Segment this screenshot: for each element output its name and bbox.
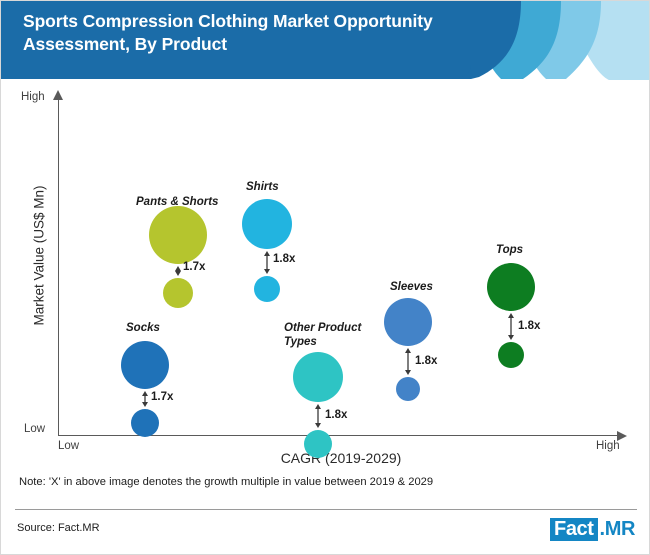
growth-connector-shirts [262, 251, 272, 274]
growth-connector-sleeves [403, 348, 413, 375]
x-axis-low-label: Low [58, 440, 79, 452]
y-axis-line [58, 98, 59, 436]
growth-multiple-other-product-types: 1.8x [325, 409, 347, 421]
bubble-label-sleeves: Sleeves [390, 281, 433, 295]
bubble-label-tops: Tops [496, 244, 523, 258]
growth-connector-socks [140, 391, 150, 407]
y-axis-arrow-icon [53, 90, 63, 100]
factmr-logo: Fact .MR [550, 517, 635, 541]
bubble-pants-shorts-2019 [149, 206, 207, 264]
growth-multiple-tops: 1.8x [518, 320, 540, 332]
bubble-label-socks: Socks [126, 322, 160, 336]
x-axis-high-label: High [596, 440, 620, 452]
source-label: Source: Fact.MR [17, 522, 100, 534]
growth-multiple-shirts: 1.8x [273, 253, 295, 265]
growth-connector-other-product-types [313, 404, 323, 428]
y-axis-low-label: Low [24, 423, 45, 435]
growth-multiple-sleeves: 1.8x [415, 355, 437, 367]
bubble-other-product-types-2029 [304, 430, 332, 458]
chart-note: Note: 'X' in above image denotes the gro… [19, 476, 433, 488]
chart-image: Sports Compression Clothing Market Oppor… [0, 0, 650, 555]
bubble-tops-2019 [487, 263, 535, 311]
bubble-other-product-types-2019 [293, 352, 343, 402]
bubble-sleeves-2029 [396, 377, 420, 401]
y-axis-high-label: High [21, 91, 45, 103]
logo-fact-text: Fact [550, 518, 598, 541]
bubble-socks-2029 [131, 409, 159, 437]
x-axis-arrow-icon [617, 431, 627, 441]
growth-multiple-socks: 1.7x [151, 391, 173, 403]
growth-connector-tops [506, 313, 516, 340]
bubble-pants-shorts-2029 [163, 278, 193, 308]
logo-mr-text: .MR [598, 518, 635, 540]
header-banner: Sports Compression Clothing Market Oppor… [1, 1, 650, 83]
bubble-label-pants-shorts: Pants & Shorts [136, 196, 218, 210]
page-title: Sports Compression Clothing Market Oppor… [23, 10, 553, 56]
footer-divider [15, 509, 637, 510]
chart-plot-area: High Low Low High Market Value (US$ Mn) … [1, 83, 650, 453]
bubble-shirts-2019 [242, 199, 292, 249]
bubble-label-other-product-types: Other Product Types [284, 322, 361, 349]
growth-connector-pants-shorts [173, 266, 183, 276]
y-axis-title: Market Value (US$ Mn) [32, 156, 47, 356]
bubble-shirts-2029 [254, 276, 280, 302]
growth-multiple-pants-shorts: 1.7x [183, 261, 205, 273]
bubble-sleeves-2019 [384, 298, 432, 346]
bubble-tops-2029 [498, 342, 524, 368]
bubble-label-shirts: Shirts [246, 181, 279, 195]
x-axis-title: CAGR (2019-2029) [221, 450, 461, 466]
bubble-socks-2019 [121, 341, 169, 389]
